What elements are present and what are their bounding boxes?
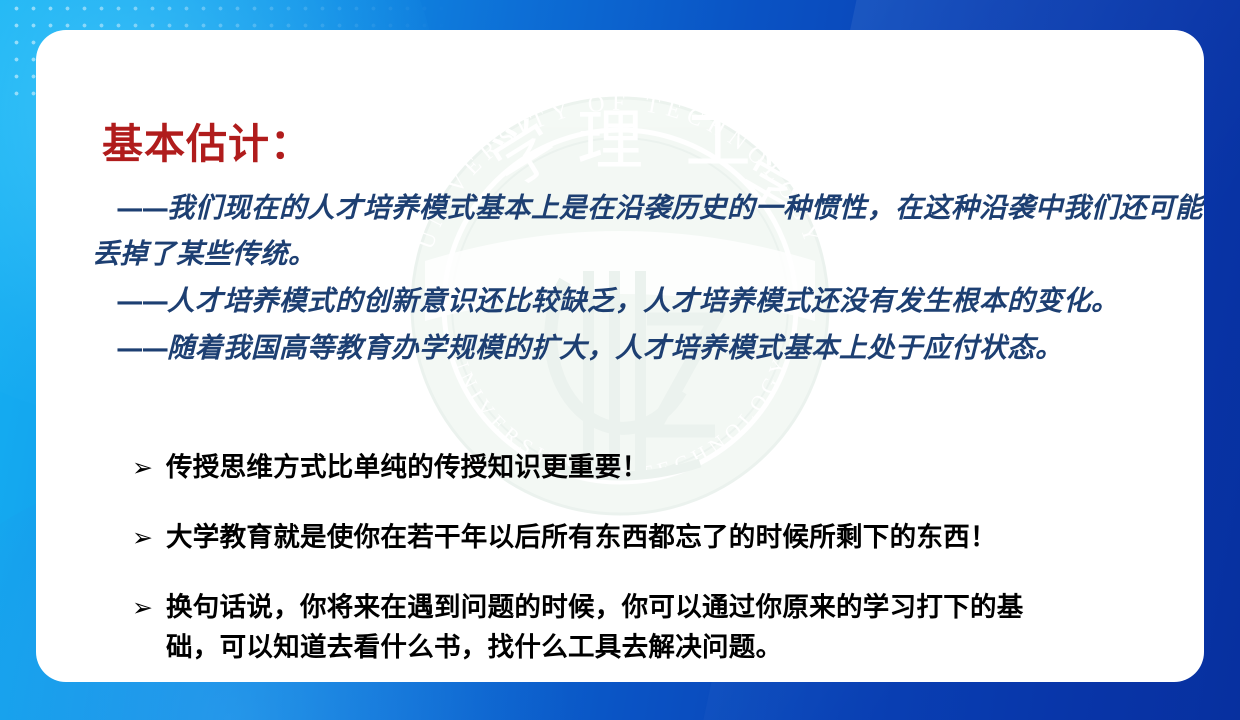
list-item-label: 大学教育就是使你在若干年以后所有东西都忘了的时候所剩下的东西！ xyxy=(166,518,1192,558)
list-item-line: 础，可以知道去看什么书，找什么工具去解决问题。 xyxy=(166,628,1192,668)
list-item-line: 传授思维方式比单纯的传授知识更重要！ xyxy=(166,448,1192,488)
arrow-bullet-icon: ➢ xyxy=(132,588,166,628)
brush-paragraph: ——随着我国高等教育办学规模的扩大，人才培养模式基本上处于应付状态。 xyxy=(92,325,1204,371)
slide-body: 基本估计： ——我们现在的人才培养模式基本上是在沿袭历史的一种惯性，在这种沿袭中… xyxy=(36,30,1204,682)
list-item-label: 换句话说，你将来在遇到问题的时候，你可以通过你原来的学习打下的基 础，可以知道去… xyxy=(166,588,1192,668)
list-item-line: 大学教育就是使你在若干年以后所有东西都忘了的时候所剩下的东西！ xyxy=(166,518,1192,558)
brush-paragraph: ——我们现在的人才培养模式基本上是在沿袭历史的一种惯性，在这种沿袭中我们还可能丢… xyxy=(92,185,1204,277)
page-title: 基本估计： xyxy=(102,122,312,166)
slide-content-card: UNIVERSITY OF TECHNOLOGY UNIVERSITY OF T… xyxy=(36,30,1204,682)
em-dash-prefix: —— xyxy=(116,332,167,364)
list-item: ➢ 大学教育就是使你在若干年以后所有东西都忘了的时候所剩下的东西！ xyxy=(132,518,1192,558)
arrow-bullet-icon: ➢ xyxy=(132,518,166,558)
brush-paragraph-block: ——我们现在的人才培养模式基本上是在沿袭历史的一种惯性，在这种沿袭中我们还可能丢… xyxy=(92,185,1204,372)
brush-paragraph-text: 我们现在的人才培养模式基本上是在沿袭历史的一种惯性，在这种沿袭中我们还可能丢掉了… xyxy=(92,192,1203,270)
presentation-slide: UNIVERSITY OF TECHNOLOGY UNIVERSITY OF T… xyxy=(0,0,1240,720)
list-item-line: 换句话说，你将来在遇到问题的时候，你可以通过你原来的学习打下的基 xyxy=(166,588,1192,628)
list-item: ➢ 传授思维方式比单纯的传授知识更重要！ xyxy=(132,448,1192,488)
list-item-label: 传授思维方式比单纯的传授知识更重要！ xyxy=(166,448,1192,488)
em-dash-prefix: —— xyxy=(116,285,167,317)
em-dash-prefix: —— xyxy=(116,192,167,224)
brush-paragraph-text: 随着我国高等教育办学规模的扩大，人才培养模式基本上处于应付状态。 xyxy=(167,332,1063,364)
bullet-list: ➢ 传授思维方式比单纯的传授知识更重要！ ➢ 大学教育就是使你在若干年以后所有东… xyxy=(132,448,1192,668)
list-item: ➢ 换句话说，你将来在遇到问题的时候，你可以通过你原来的学习打下的基 础，可以知… xyxy=(132,588,1192,668)
arrow-bullet-icon: ➢ xyxy=(132,448,166,488)
brush-paragraph: ——人才培养模式的创新意识还比较缺乏，人才培养模式还没有发生根本的变化。 xyxy=(92,278,1204,324)
brush-paragraph-text: 人才培养模式的创新意识还比较缺乏，人才培养模式还没有发生根本的变化。 xyxy=(167,285,1119,317)
